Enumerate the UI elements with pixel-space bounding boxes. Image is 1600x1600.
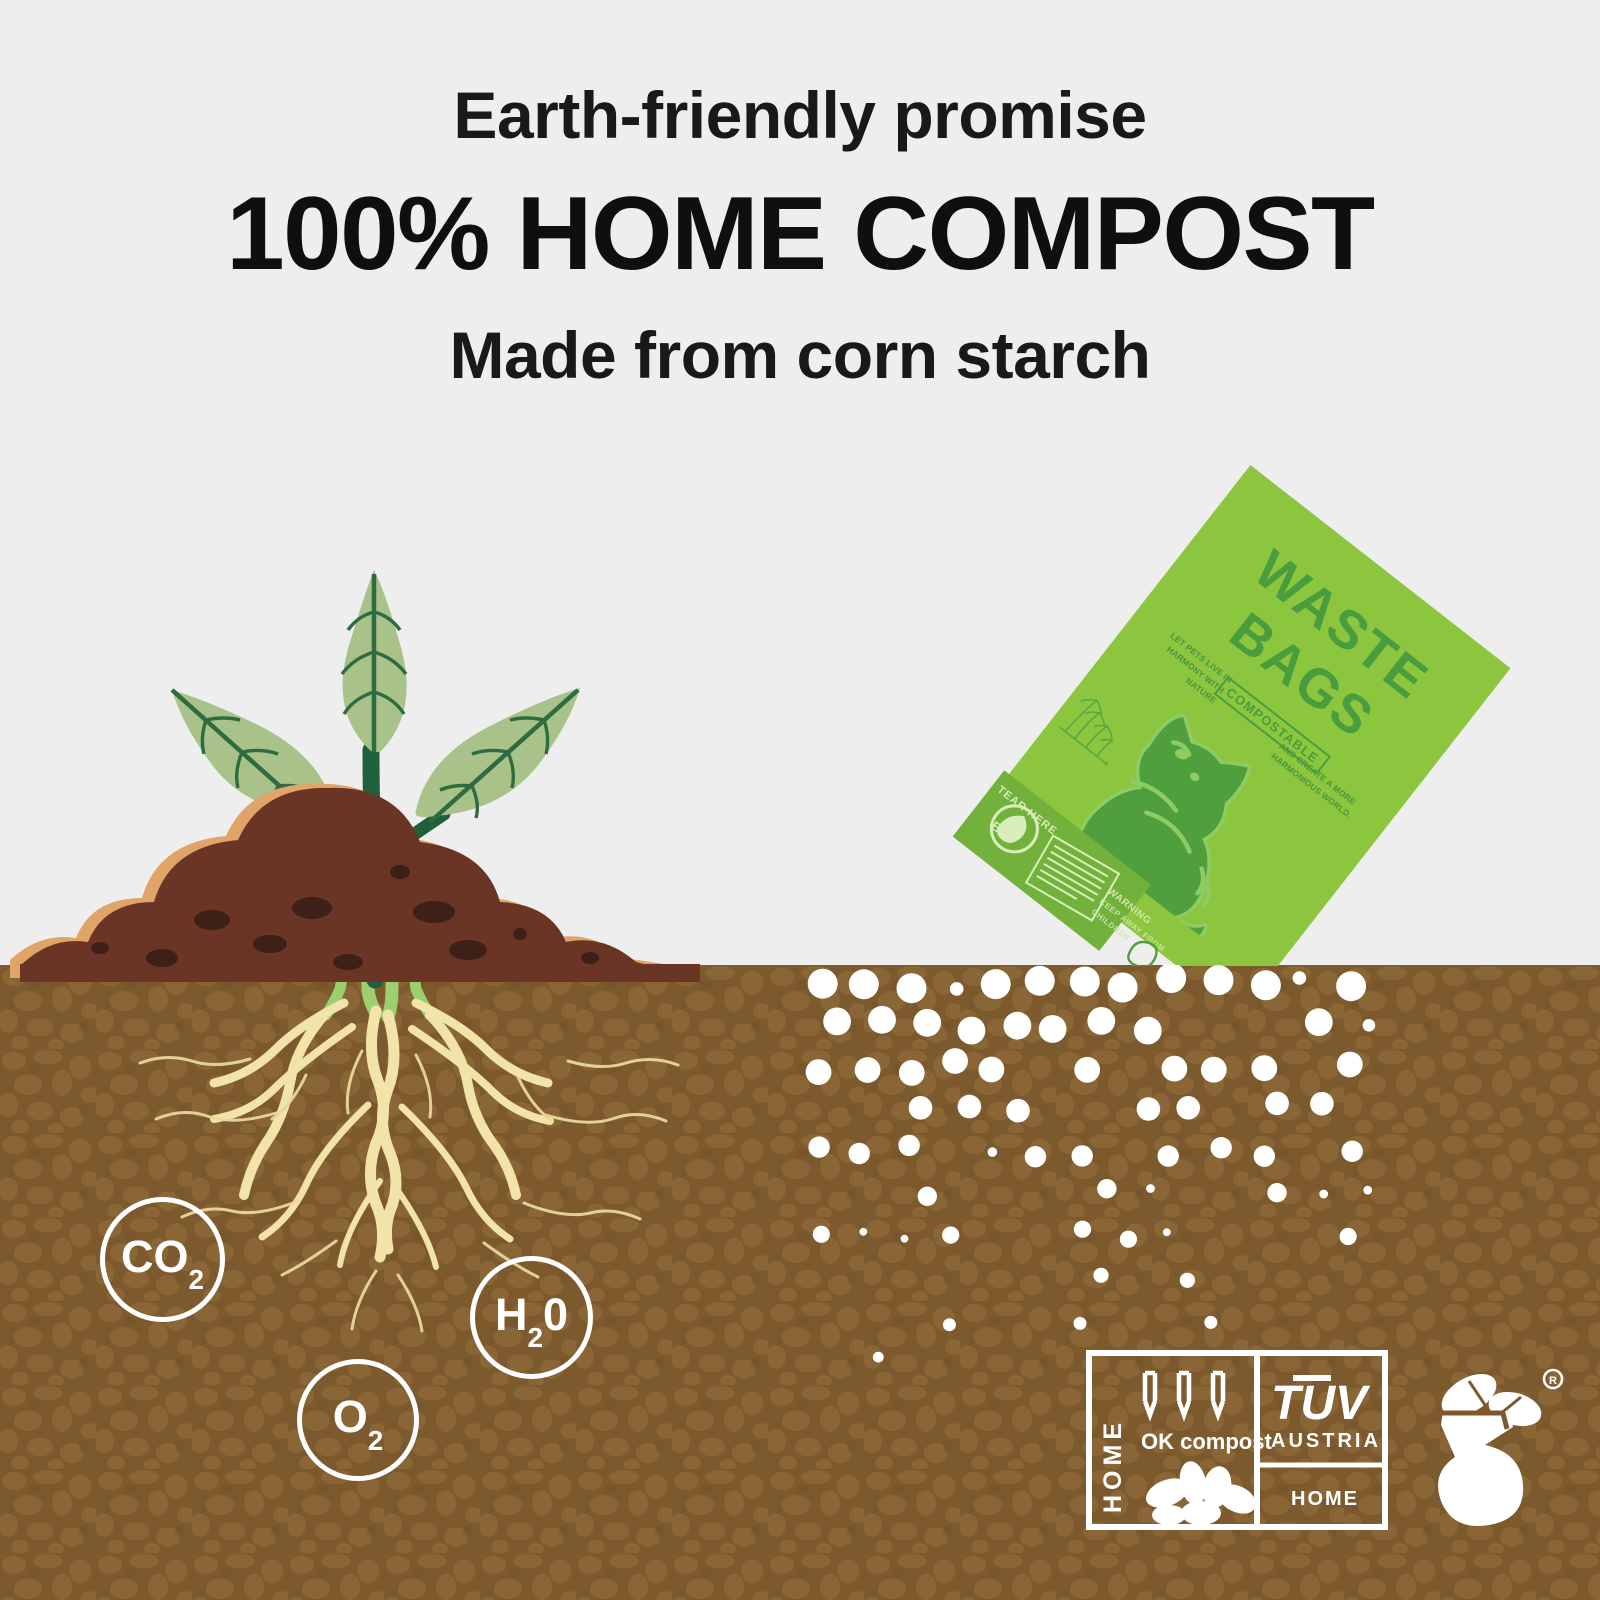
dissolve-dot <box>823 1008 851 1036</box>
leaf-center <box>342 570 407 752</box>
dissolve-dot <box>1039 1015 1067 1043</box>
subtitle-text: Made from corn starch <box>0 322 1600 388</box>
dissolve-dot <box>849 1143 870 1164</box>
headline-block: Earth-friendly promise 100% HOME COMPOST… <box>0 0 1600 388</box>
dissolve-dot <box>1087 1007 1115 1035</box>
dissolve-dot <box>988 1147 998 1157</box>
dissolve-dot <box>808 969 838 999</box>
ok-compost-vertical-label: HOME <box>1099 1418 1127 1513</box>
dissolve-dot <box>1204 965 1234 995</box>
dissolve-dot <box>1204 1316 1217 1329</box>
dissolve-dot <box>1156 965 1186 993</box>
dissolve-dot <box>1158 1145 1179 1166</box>
dissolve-dot <box>1137 1097 1161 1121</box>
dissolve-dot <box>1176 1096 1200 1120</box>
dissolve-dot <box>849 969 879 999</box>
dissolve-dot <box>942 1048 968 1074</box>
registered-trademark-symbol: R <box>1549 1375 1557 1387</box>
gas-label-o2: O2 <box>333 1391 384 1449</box>
dissolve-dot <box>898 1135 919 1156</box>
dissolve-dot <box>1265 1092 1289 1116</box>
dissolve-dot <box>1070 967 1100 997</box>
tuv-country: AUSTRIA <box>1271 1430 1381 1452</box>
compost-flower-icon <box>1142 1459 1261 1525</box>
dissolve-dot <box>1337 1052 1363 1078</box>
dissolve-dot <box>1310 1092 1334 1116</box>
dissolve-dot <box>1305 1008 1333 1036</box>
dissolve-dot <box>958 1017 986 1045</box>
dissolve-dot <box>859 1228 867 1236</box>
dissolve-dot <box>1254 1146 1275 1167</box>
dissolve-dot <box>913 1009 941 1037</box>
waste-bag-package[interactable]: WASTE BAGS COMPOSTABLE LET PETS LIVE IN … <box>800 460 1600 966</box>
dissolve-dot <box>1251 1055 1277 1081</box>
dissolve-dot <box>1006 1099 1030 1123</box>
dissolve-dot <box>899 1060 925 1086</box>
dissolve-dot <box>1025 1146 1046 1167</box>
gas-label-h2o: H20 <box>495 1289 568 1347</box>
seedling-compostable-logo: R <box>1435 1365 1562 1526</box>
dissolve-dot <box>1363 1186 1372 1195</box>
dissolve-dot <box>1363 1019 1376 1032</box>
dissolve-dot <box>1108 973 1138 1003</box>
gas-bubble-o2: O2 <box>297 1359 419 1481</box>
compost-mound <box>22 788 698 978</box>
dissolve-dot <box>1097 1179 1116 1198</box>
dissolve-dot <box>897 973 927 1003</box>
dissolve-dot <box>813 1226 830 1243</box>
dissolve-dot <box>1074 1057 1100 1083</box>
certification-logos: HOME OK compost TUV AUSTRIA <box>1085 1345 1565 1535</box>
dissolve-dot <box>1336 971 1366 1001</box>
dissolve-dot <box>1163 1228 1171 1236</box>
gas-bubble-h2o: H20 <box>470 1256 593 1379</box>
dissolve-dot <box>1074 1221 1091 1238</box>
dissolve-dot <box>918 1187 937 1206</box>
dissolve-dot <box>868 1006 896 1034</box>
dissolve-dot <box>1201 1057 1227 1083</box>
poster-canvas: Earth-friendly promise 100% HOME COMPOST… <box>0 0 1600 1600</box>
dissolve-dot <box>873 1352 884 1363</box>
dissolve-dot <box>1340 1228 1357 1245</box>
page-title: 100% HOME COMPOST <box>0 182 1600 286</box>
gas-bubble-co2: CO2 <box>100 1197 225 1322</box>
tuv-brand: TUV <box>1271 1377 1371 1430</box>
tuv-austria-logo: TUV AUSTRIA HOME <box>1271 1377 1381 1510</box>
dissolve-dot <box>901 1235 909 1243</box>
dissolve-dot <box>1072 1145 1093 1166</box>
dissolve-dot <box>1342 1141 1363 1162</box>
dissolve-dot <box>1074 1317 1087 1330</box>
dissolve-dot <box>943 1318 956 1331</box>
dissolve-dot <box>1267 1183 1286 1202</box>
dissolve-dot <box>1004 1012 1032 1040</box>
leaf-right <box>415 688 580 822</box>
dissolve-dot <box>1025 966 1055 996</box>
dissolve-dot <box>1134 1017 1162 1045</box>
dissolve-dot <box>1319 1190 1328 1199</box>
dissolve-dot <box>1162 1056 1188 1082</box>
dissolve-dot <box>1251 970 1281 1000</box>
dissolve-dot <box>909 1096 933 1120</box>
ok-compost-label: OK compost <box>1141 1429 1272 1454</box>
dissolve-dot <box>979 1057 1005 1083</box>
dissolve-dot <box>981 969 1011 999</box>
dissolve-dot <box>1093 1268 1108 1283</box>
eyebrow-text: Earth-friendly promise <box>0 82 1600 148</box>
ok-compost-home-badge: HOME OK compost TUV AUSTRIA <box>1089 1353 1385 1527</box>
down-arrow-icon-group <box>1145 1373 1223 1415</box>
dissolve-dot <box>855 1057 881 1083</box>
dissolve-dot <box>806 1059 832 1085</box>
dissolve-dot <box>808 1136 829 1157</box>
dissolve-dot <box>1180 1273 1195 1288</box>
tuv-scheme: HOME <box>1291 1488 1359 1510</box>
dissolve-dot <box>950 982 964 996</box>
gas-label-co2: CO2 <box>121 1231 204 1289</box>
dissolve-dot <box>958 1095 982 1119</box>
dissolve-dot <box>1293 971 1307 985</box>
dissolve-dot <box>1211 1137 1232 1158</box>
dissolve-dot <box>1146 1184 1155 1193</box>
dissolve-dot <box>942 1227 959 1244</box>
dissolve-dot <box>1120 1231 1137 1248</box>
